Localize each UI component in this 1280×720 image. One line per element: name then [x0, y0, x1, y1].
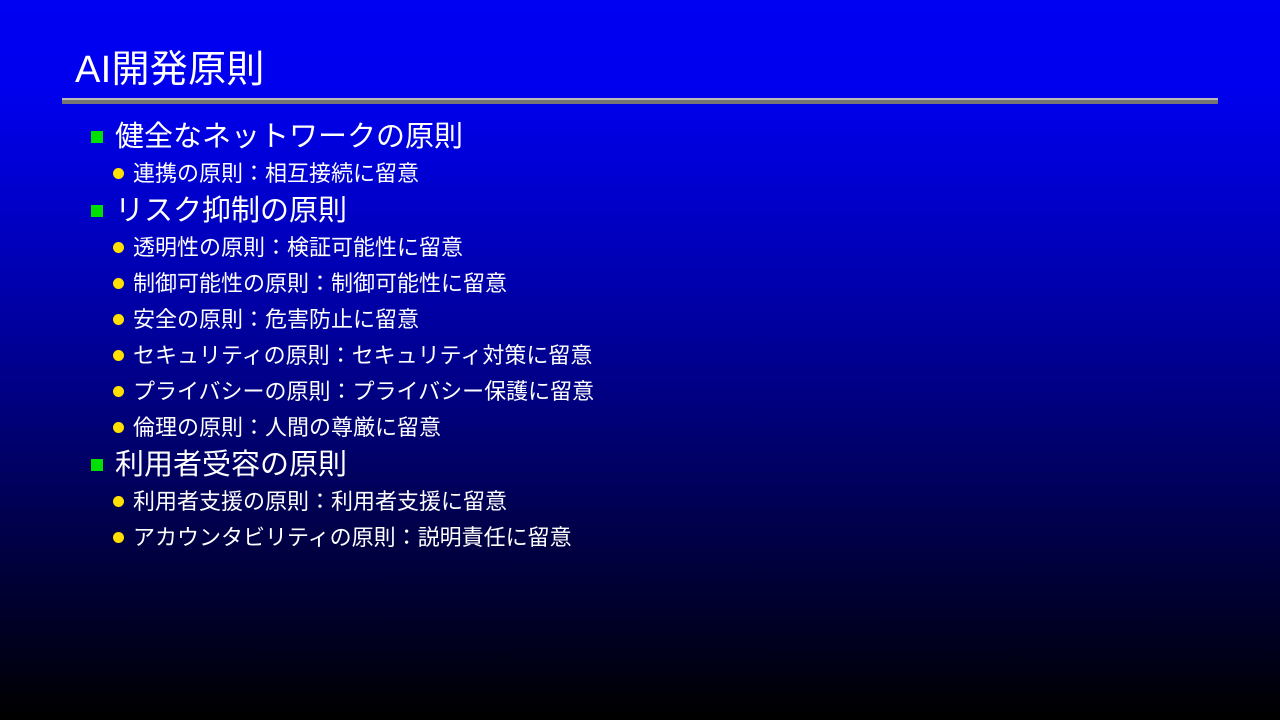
- yellow-dot-bullet-icon: [113, 278, 124, 289]
- title-underline-rule: [62, 98, 1218, 104]
- presentation-slide: AI開発原則 健全なネットワークの原則 連携の原則：相互接続に留意 リスク抑制の…: [0, 0, 1280, 720]
- rule-body-line: [62, 100, 1218, 104]
- outline-group: 健全なネットワークの原則 連携の原則：相互接続に留意: [0, 118, 1280, 192]
- outline-level1-label: 健全なネットワークの原則: [115, 118, 463, 156]
- outline-level2-item[interactable]: 利用者支援の原則：利用者支援に留意: [0, 484, 1280, 520]
- slide-title: AI開発原則: [75, 47, 265, 93]
- yellow-dot-bullet-icon: [113, 532, 124, 543]
- outline-level2-label: 制御可能性の原則：制御可能性に留意: [133, 266, 507, 302]
- yellow-dot-bullet-icon: [113, 422, 124, 433]
- outline-level2-label: プライバシーの原則：プライバシー保護に留意: [133, 374, 594, 410]
- outline-level2-item[interactable]: 安全の原則：危害防止に留意: [0, 302, 1280, 338]
- outline-level2-label: セキュリティの原則：セキュリティ対策に留意: [133, 338, 592, 374]
- outline-level2-label: 倫理の原則：人間の尊厳に留意: [133, 410, 441, 446]
- outline-level2-item[interactable]: 連携の原則：相互接続に留意: [0, 156, 1280, 192]
- outline-group: 利用者受容の原則 利用者支援の原則：利用者支援に留意 アカウンタビリティの原則：…: [0, 446, 1280, 556]
- outline-level2-item[interactable]: アカウンタビリティの原則：説明責任に留意: [0, 520, 1280, 556]
- outline-level1-item[interactable]: 健全なネットワークの原則: [0, 118, 1280, 156]
- outline-level2-label: 安全の原則：危害防止に留意: [133, 302, 419, 338]
- outline-level2-label: 連携の原則：相互接続に留意: [133, 156, 419, 192]
- yellow-dot-bullet-icon: [113, 314, 124, 325]
- outline-level1-item[interactable]: 利用者受容の原則: [0, 446, 1280, 484]
- outline-level2-label: 透明性の原則：検証可能性に留意: [133, 230, 463, 266]
- outline-level2-label: 利用者支援の原則：利用者支援に留意: [133, 484, 507, 520]
- yellow-dot-bullet-icon: [113, 242, 124, 253]
- green-square-bullet-icon: [91, 131, 103, 143]
- outline-level2-label: アカウンタビリティの原則：説明責任に留意: [133, 520, 572, 556]
- slide-body-outline: 健全なネットワークの原則 連携の原則：相互接続に留意 リスク抑制の原則 透明性の…: [0, 118, 1280, 556]
- outline-level1-label: 利用者受容の原則: [115, 446, 347, 484]
- outline-level2-item[interactable]: 倫理の原則：人間の尊厳に留意: [0, 410, 1280, 446]
- outline-level2-item[interactable]: セキュリティの原則：セキュリティ対策に留意: [0, 338, 1280, 374]
- outline-level2-item[interactable]: 制御可能性の原則：制御可能性に留意: [0, 266, 1280, 302]
- outline-group: リスク抑制の原則 透明性の原則：検証可能性に留意 制御可能性の原則：制御可能性に…: [0, 192, 1280, 446]
- yellow-dot-bullet-icon: [113, 168, 124, 179]
- yellow-dot-bullet-icon: [113, 496, 124, 507]
- green-square-bullet-icon: [91, 205, 103, 217]
- yellow-dot-bullet-icon: [113, 350, 124, 361]
- outline-level1-item[interactable]: リスク抑制の原則: [0, 192, 1280, 230]
- yellow-dot-bullet-icon: [113, 386, 124, 397]
- green-square-bullet-icon: [91, 459, 103, 471]
- outline-level1-label: リスク抑制の原則: [115, 192, 347, 230]
- outline-level2-item[interactable]: 透明性の原則：検証可能性に留意: [0, 230, 1280, 266]
- outline-level2-item[interactable]: プライバシーの原則：プライバシー保護に留意: [0, 374, 1280, 410]
